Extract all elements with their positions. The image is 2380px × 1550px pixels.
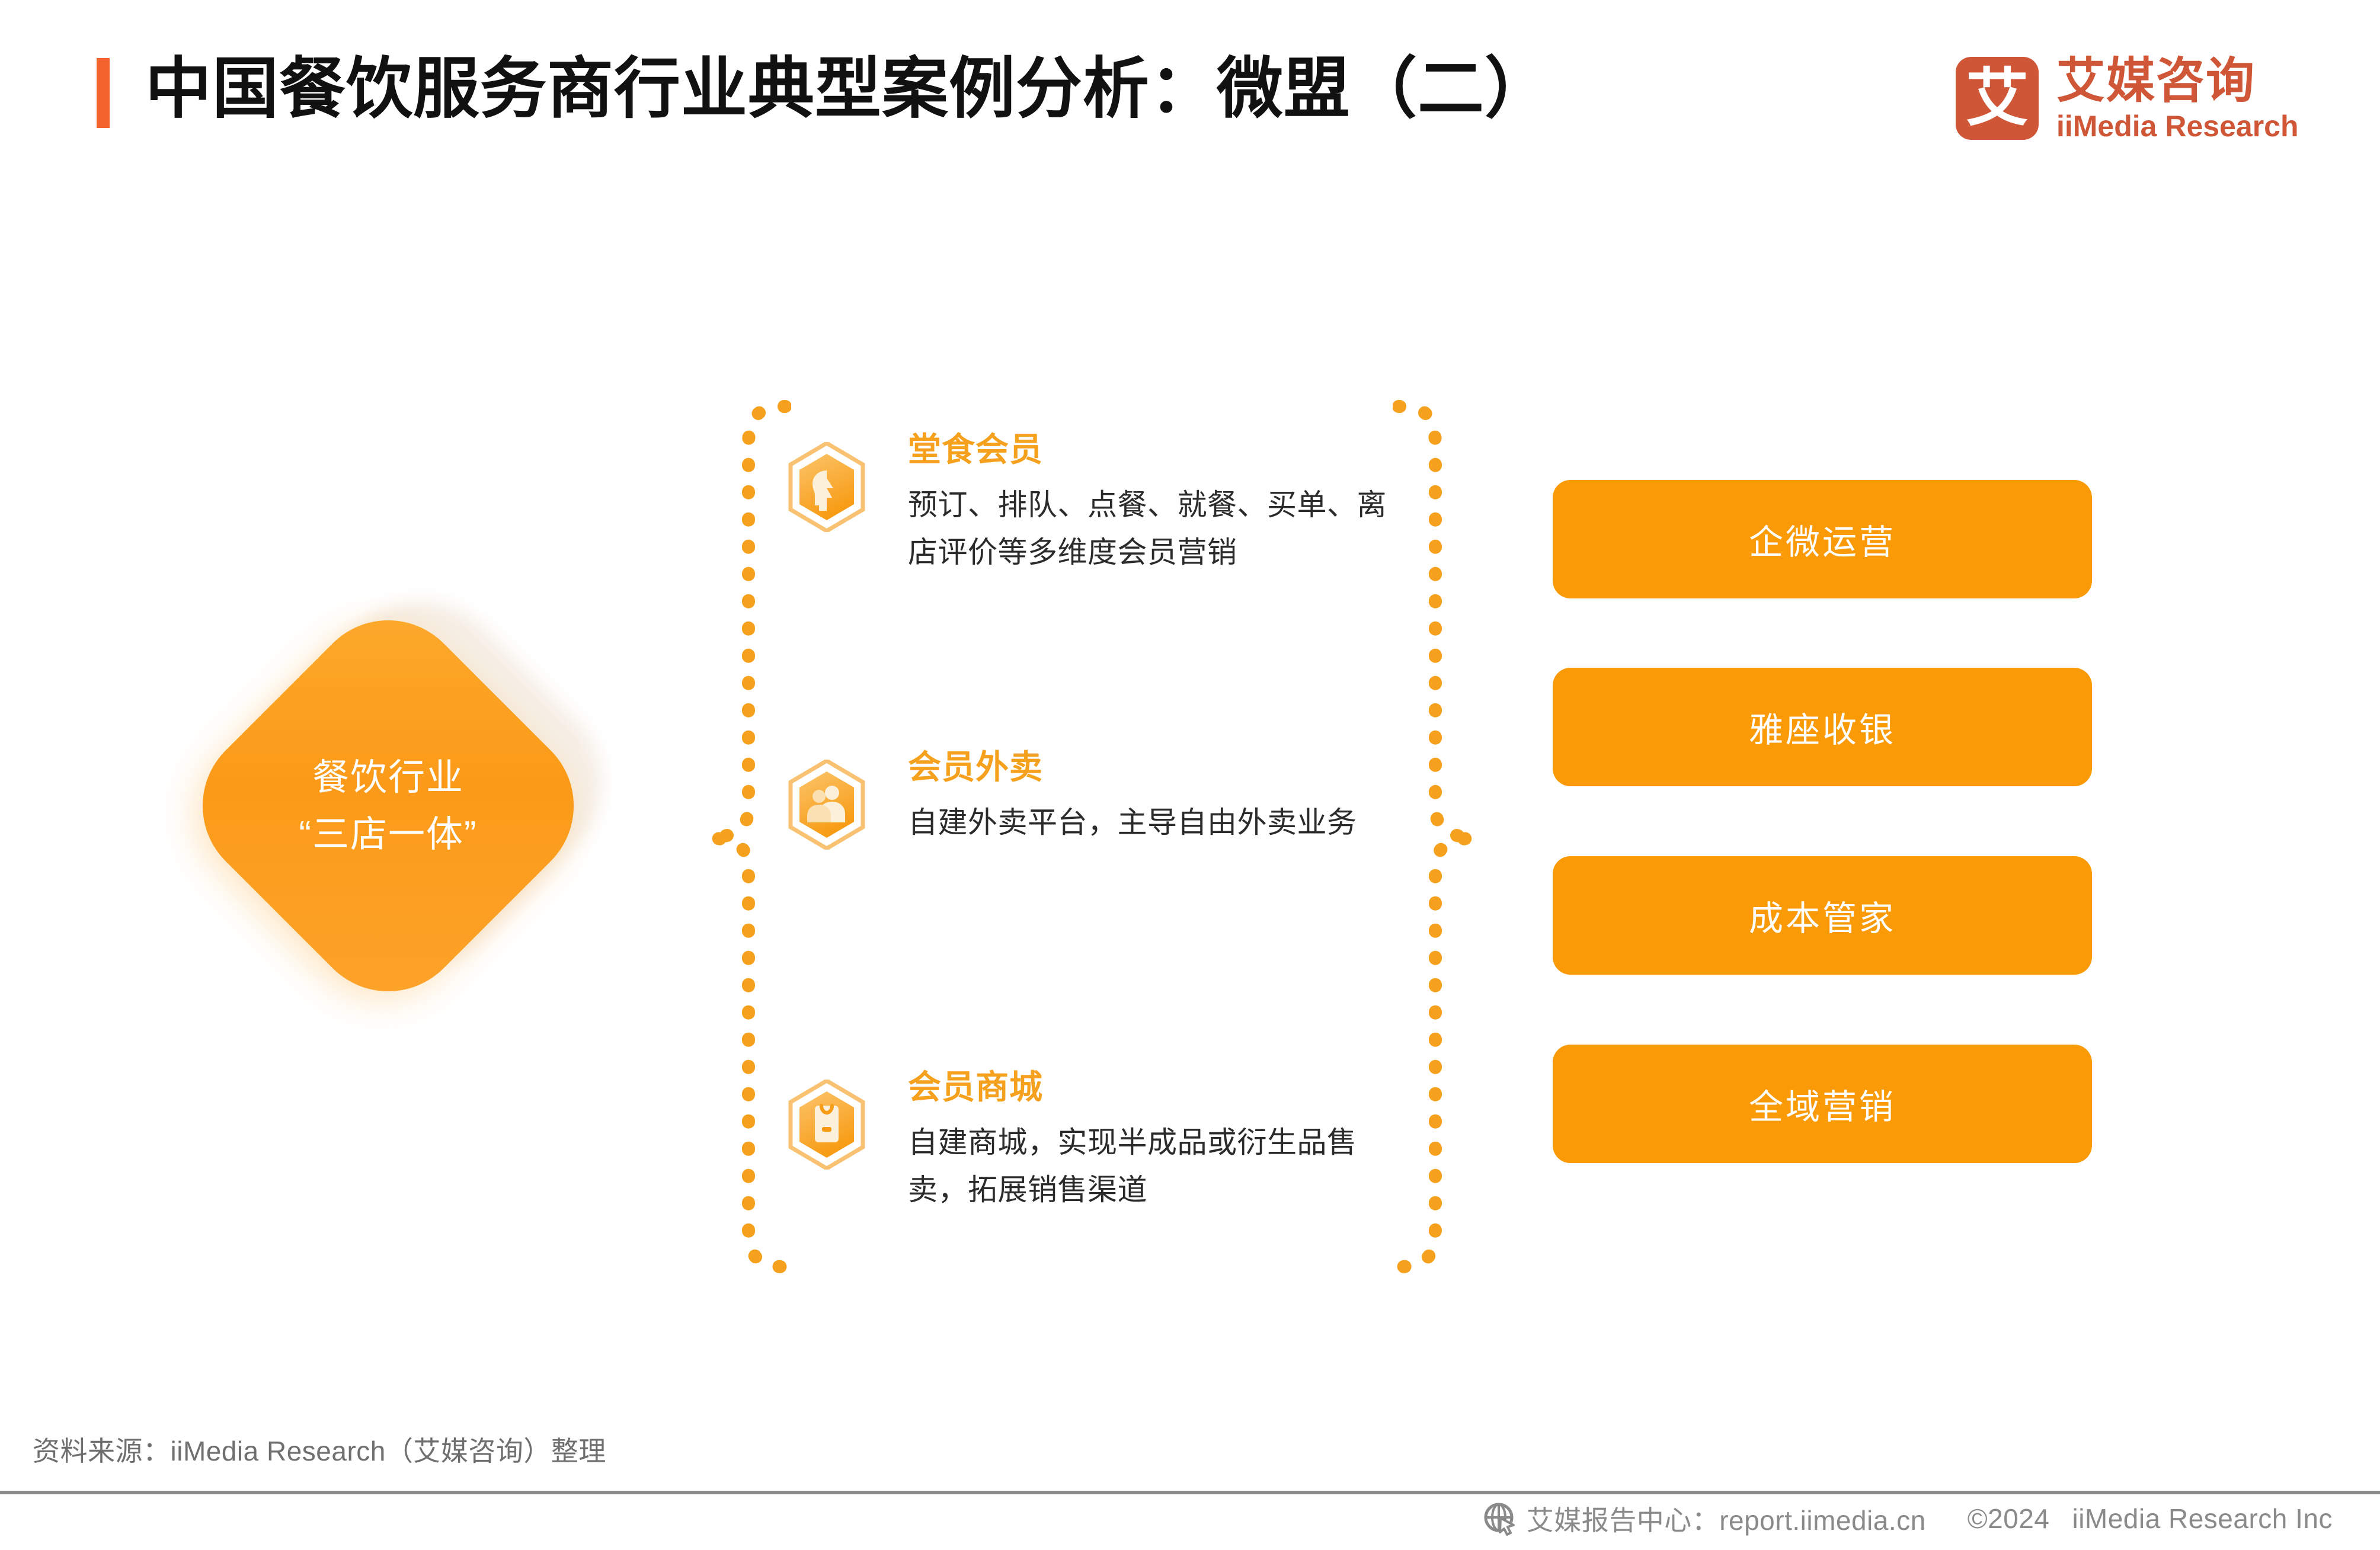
feature-title: 会员外卖 — [908, 745, 1388, 789]
dotted-brace-left-icon — [702, 398, 791, 1275]
service-pill-yazuo[interactable]: 雅座收银 — [1553, 668, 2092, 786]
brand-logo: 艾 艾媒咨询 iiMedia Research — [1956, 53, 2299, 143]
logo-name-en: iiMedia Research — [2056, 109, 2299, 143]
page-header: 中国餐饮服务商行业典型案例分析：微盟（二） 艾 艾媒咨询 iiMedia Res… — [0, 0, 2380, 196]
feature-text: 会员商城 自建商城，实现半成品或衍生品售卖，拓展销售渠道 — [908, 1065, 1388, 1213]
footer-content: 艾媒报告中心：report.iimedia.cn ©2024 iiMedia R… — [1483, 1499, 2333, 1538]
feature-row: 会员外卖 自建外卖平台，主导自由外卖业务 — [788, 745, 1357, 850]
feature-title: 堂食会员 — [908, 428, 1388, 472]
diamond-label-line2: “三店一体” — [210, 806, 566, 863]
service-pill-chengben[interactable]: 成本管家 — [1553, 856, 2092, 975]
feature-row: 会员商城 自建商城，实现半成品或衍生品售卖，拓展销售渠道 — [788, 1065, 1357, 1213]
feature-desc: 自建外卖平台，主导自由外卖业务 — [908, 799, 1388, 846]
service-pill-qiwei[interactable]: 企微运营 — [1553, 480, 2092, 598]
logo-mark-icon: 艾 — [1956, 57, 2039, 140]
source-note: 资料来源：iiMedia Research（艾媒咨询）整理 — [33, 1430, 606, 1469]
diamond-label: 餐饮行业 “三店一体” — [210, 750, 566, 863]
diamond-label-line1: 餐饮行业 — [210, 750, 566, 806]
logo-text-block: 艾媒咨询 iiMedia Research — [2056, 53, 2299, 143]
dotted-brace-right-icon — [1393, 398, 1482, 1275]
title-accent-bar — [97, 58, 110, 128]
logo-mark-glyph: 艾 — [1956, 57, 2039, 140]
shopping-bag-icon — [788, 1080, 865, 1170]
feature-row: 堂食会员 预订、排队、点餐、就餐、买单、离店评价等多维度会员营销 — [788, 428, 1357, 576]
feature-title: 会员商城 — [908, 1065, 1388, 1109]
feature-desc: 预订、排队、点餐、就餐、买单、离店评价等多维度会员营销 — [908, 481, 1388, 576]
page-title: 中国餐饮服务商行业典型案例分析：微盟（二） — [145, 47, 1552, 130]
footer-company: iiMedia Research Inc — [2072, 1503, 2333, 1535]
logo-name-cn: 艾媒咨询 — [2056, 53, 2299, 109]
feature-text: 堂食会员 预订、排队、点餐、就餐、买单、离店评价等多维度会员营销 — [908, 428, 1388, 576]
service-pill-quanyu[interactable]: 全域营销 — [1553, 1045, 2092, 1163]
core-concept-diamond: 餐饮行业 “三店一体” — [210, 598, 649, 1013]
globe-cursor-icon — [1483, 1501, 1527, 1536]
head-lightning-icon — [788, 442, 865, 532]
feature-text: 会员外卖 自建外卖平台，主导自由外卖业务 — [908, 745, 1388, 846]
footer-copyright: ©2024 — [1968, 1503, 2050, 1535]
feature-desc: 自建商城，实现半成品或衍生品售卖，拓展销售渠道 — [908, 1119, 1388, 1213]
members-people-icon — [788, 760, 865, 850]
footer-report-center[interactable]: 艾媒报告中心：report.iimedia.cn — [1527, 1499, 1926, 1538]
